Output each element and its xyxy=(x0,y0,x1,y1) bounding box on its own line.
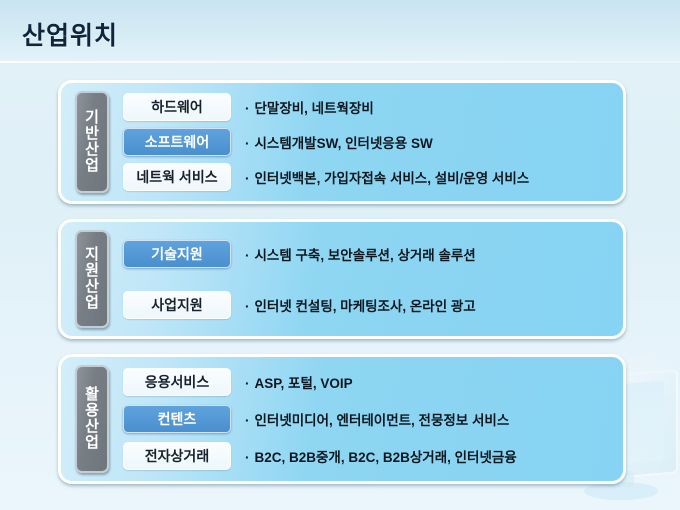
category-char: 산 xyxy=(85,419,99,435)
list-item: 소프트웨어 ·시스템개발SW, 인터넷응용 SW xyxy=(123,128,613,156)
bullet-dot-icon: · xyxy=(245,376,250,391)
list-item: 하드웨어 ·단말장비, 네트웍장비 xyxy=(123,93,613,121)
title-divider xyxy=(0,61,680,63)
category-char: 반 xyxy=(85,126,99,142)
category-char: 원 xyxy=(85,263,99,279)
list-item: 사업지원 ·인터넷 컨설팅, 마케팅조사, 온라인 광고 xyxy=(123,291,613,319)
bullet-dot-icon: · xyxy=(245,136,250,151)
group-box-application-industry: 활 용 산 업 응용서비스 ·ASP, 포털, VOIP 컨텐츠 ·인터넷미디어… xyxy=(58,354,626,484)
category-tab-foundation-industry: 기 반 산 업 xyxy=(75,91,109,193)
category-char: 업 xyxy=(85,435,99,451)
row-description-text: 인터넷백본, 가입자접속 서비스, 설비/운영 서비스 xyxy=(255,171,530,186)
row-description-text: 단말장비, 네트웍장비 xyxy=(255,101,374,116)
bullet-dot-icon: · xyxy=(245,413,250,428)
row-description: ·시스템개발SW, 인터넷응용 SW xyxy=(245,132,433,152)
row-description-text: 시스템 구축, 보안솔루션, 상거래 솔루션 xyxy=(255,248,476,263)
bullet-dot-icon: · xyxy=(245,299,250,314)
category-char: 산 xyxy=(85,279,99,295)
category-char: 업 xyxy=(85,295,99,311)
row-label-chip[interactable]: 소프트웨어 xyxy=(123,128,231,156)
row-description: ·단말장비, 네트웍장비 xyxy=(245,97,374,117)
row-description-text: B2C, B2B중개, B2C, B2B상거래, 인터넷금융 xyxy=(255,450,517,465)
row-label-chip[interactable]: 전자상거래 xyxy=(123,442,231,470)
row-label-chip[interactable]: 응용서비스 xyxy=(123,368,231,396)
bullet-dot-icon: · xyxy=(245,248,250,263)
row-description: ·시스템 구축, 보안솔루션, 상거래 솔루션 xyxy=(245,244,476,264)
category-char: 기 xyxy=(85,110,99,126)
row-description: ·인터넷백본, 가입자접속 서비스, 설비/운영 서비스 xyxy=(245,167,529,187)
category-char: 지 xyxy=(85,247,99,263)
row-description-text: 인터넷 컨설팅, 마케팅조사, 온라인 광고 xyxy=(255,299,476,314)
group-rows: 기술지원 ·시스템 구축, 보안솔루션, 상거래 솔루션 사업지원 ·인터넷 컨… xyxy=(123,228,613,330)
row-description: ·인터넷미디어, 엔터테이먼트, 전뭉정보 서비스 xyxy=(245,409,509,429)
row-label-chip[interactable]: 하드웨어 xyxy=(123,93,231,121)
group-rows: 하드웨어 ·단말장비, 네트웍장비 소프트웨어 ·시스템개발SW, 인터넷응용 … xyxy=(123,89,613,195)
row-description-text: ASP, 포털, VOIP xyxy=(255,376,353,391)
list-item: 컨텐츠 ·인터넷미디어, 엔터테이먼트, 전뭉정보 서비스 xyxy=(123,405,613,433)
group-box-foundation-industry: 기 반 산 업 하드웨어 ·단말장비, 네트웍장비 소프트웨어 ·시스템개발SW… xyxy=(58,80,626,204)
row-label-chip[interactable]: 컨텐츠 xyxy=(123,405,231,433)
category-tab-application-industry: 활 용 산 업 xyxy=(75,365,109,473)
group-box-support-industry: 지 원 산 업 기술지원 ·시스템 구축, 보안솔루션, 상거래 솔루션 사업지… xyxy=(58,219,626,339)
category-char: 활 xyxy=(85,387,99,403)
category-char: 용 xyxy=(85,403,99,419)
page-title: 산업위치 xyxy=(22,16,118,52)
row-description: ·ASP, 포털, VOIP xyxy=(245,372,353,392)
list-item: 응용서비스 ·ASP, 포털, VOIP xyxy=(123,368,613,396)
list-item: 전자상거래 ·B2C, B2B중개, B2C, B2B상거래, 인터넷금융 xyxy=(123,442,613,470)
bullet-dot-icon: · xyxy=(245,171,250,186)
category-tab-support-industry: 지 원 산 업 xyxy=(75,230,109,328)
bullet-dot-icon: · xyxy=(245,450,250,465)
group-rows: 응용서비스 ·ASP, 포털, VOIP 컨텐츠 ·인터넷미디어, 엔터테이먼트… xyxy=(123,363,613,475)
row-label-chip[interactable]: 기술지원 xyxy=(123,240,231,268)
row-description-text: 시스템개발SW, 인터넷응용 SW xyxy=(255,136,433,151)
row-description-text: 인터넷미디어, 엔터테이먼트, 전뭉정보 서비스 xyxy=(255,413,510,428)
row-label-chip[interactable]: 네트웍 서비스 xyxy=(123,163,231,191)
row-description: ·인터넷 컨설팅, 마케팅조사, 온라인 광고 xyxy=(245,295,476,315)
row-description: ·B2C, B2B중개, B2C, B2B상거래, 인터넷금융 xyxy=(245,446,517,466)
category-char: 산 xyxy=(85,142,99,158)
category-char: 업 xyxy=(85,158,99,174)
list-item: 기술지원 ·시스템 구축, 보안솔루션, 상거래 솔루션 xyxy=(123,240,613,268)
slide-canvas: 산업위치 기 반 산 업 하드웨어 ·단말장비, 네트웍장비 소프트웨어 · xyxy=(0,0,680,510)
list-item: 네트웍 서비스 ·인터넷백본, 가입자접속 서비스, 설비/운영 서비스 xyxy=(123,163,613,191)
watermark-stand-base xyxy=(584,482,658,500)
bullet-dot-icon: · xyxy=(245,101,250,116)
row-label-chip[interactable]: 사업지원 xyxy=(123,291,231,319)
